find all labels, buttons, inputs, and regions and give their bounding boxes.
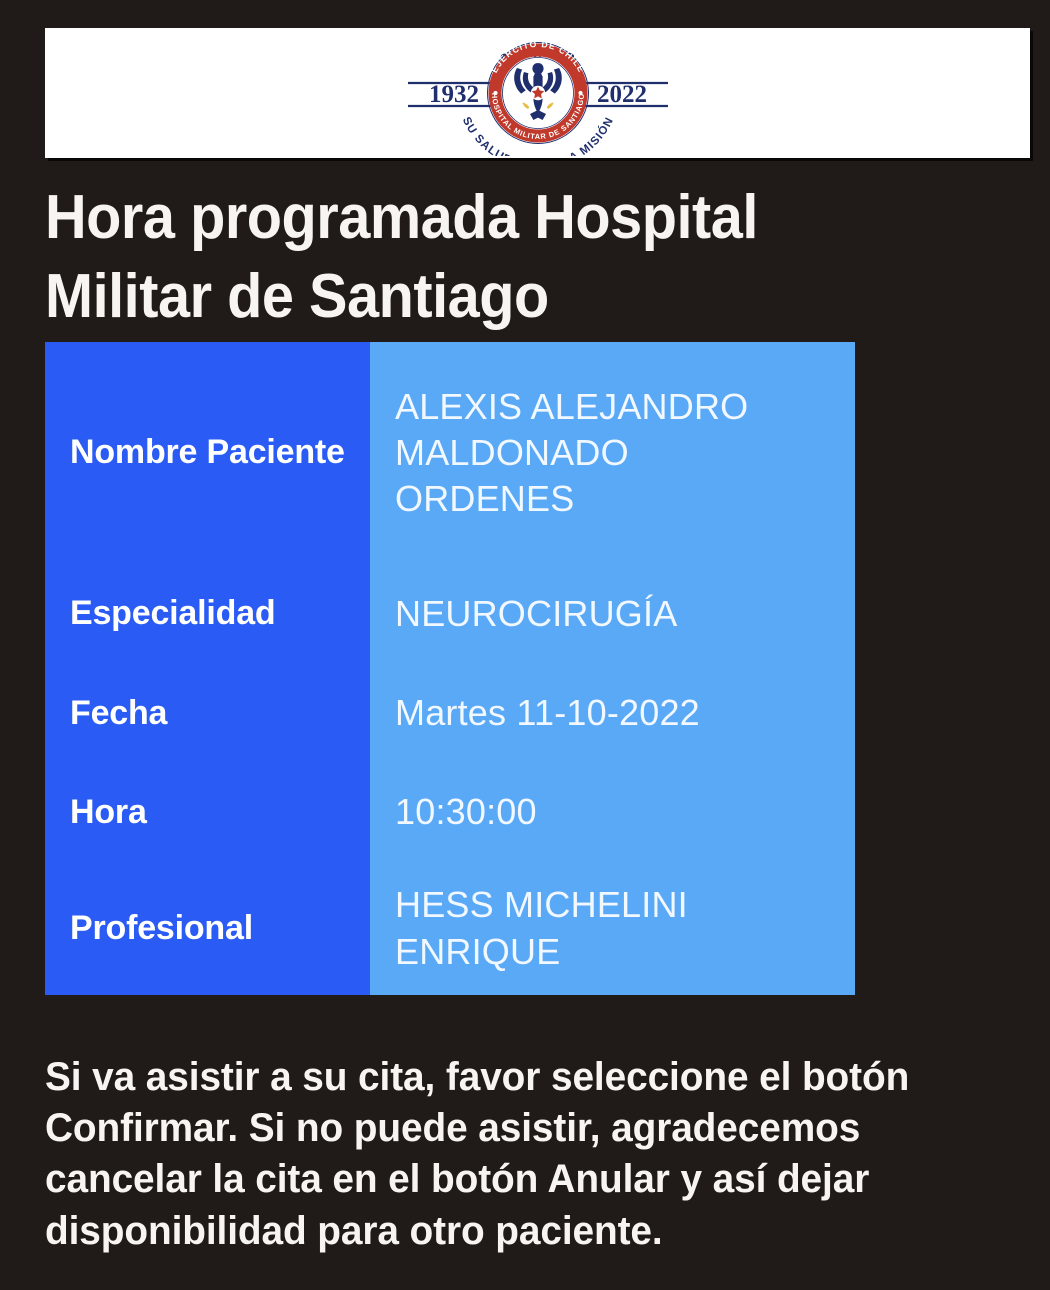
row-value-hora: 10:30:00 bbox=[370, 763, 855, 862]
value-line: NEUROCIRUGÍA bbox=[395, 591, 677, 637]
value-line: ALEXIS ALEJANDRO bbox=[395, 384, 748, 430]
row-label-fecha: Fecha bbox=[45, 664, 370, 763]
row-value-fecha: Martes 11-10-2022 bbox=[370, 664, 855, 763]
table-row: Especialidad NEUROCIRUGÍA bbox=[45, 564, 855, 664]
row-label-especialidad: Especialidad bbox=[45, 564, 370, 664]
row-label-profesional: Profesional bbox=[45, 862, 370, 995]
table-row: Hora 10:30:00 bbox=[45, 763, 855, 862]
value-line: ORDENES bbox=[395, 476, 748, 522]
row-label-nombre-paciente: Nombre Paciente bbox=[45, 342, 370, 564]
row-value-profesional: HESS MICHELINI ENRIQUE bbox=[370, 862, 855, 995]
institution-logo: 1932 2022 90 AÑOS EJÉRCITO DE CHILE HOSP… bbox=[378, 30, 698, 156]
row-label-hora: Hora bbox=[45, 763, 370, 862]
logo-year-right: 2022 bbox=[597, 81, 647, 108]
row-value-nombre-paciente: ALEXIS ALEJANDRO MALDONADO ORDENES bbox=[370, 342, 855, 564]
value-line: Martes 11-10-2022 bbox=[395, 690, 700, 736]
row-value-especialidad: NEUROCIRUGÍA bbox=[370, 564, 855, 664]
table-row: Profesional HESS MICHELINI ENRIQUE bbox=[45, 862, 855, 995]
logo-panel: 1932 2022 90 AÑOS EJÉRCITO DE CHILE HOSP… bbox=[45, 28, 1030, 158]
table-row: Fecha Martes 11-10-2022 bbox=[45, 664, 855, 763]
instructions-text: Si va asistir a su cita, favor seleccion… bbox=[45, 1052, 1000, 1257]
hospital-crest-icon: 1932 2022 90 AÑOS EJÉRCITO DE CHILE HOSP… bbox=[378, 30, 698, 156]
appointment-details-table: Nombre Paciente ALEXIS ALEJANDRO MALDONA… bbox=[45, 342, 855, 995]
logo-year-left: 1932 bbox=[429, 81, 479, 108]
value-line: ENRIQUE bbox=[395, 929, 688, 975]
page-title: Hora programada Hospital Militar de Sant… bbox=[45, 178, 938, 337]
value-line: MALDONADO bbox=[395, 430, 748, 476]
appointment-notification-page: 1932 2022 90 AÑOS EJÉRCITO DE CHILE HOSP… bbox=[0, 0, 1050, 1290]
value-line: 10:30:00 bbox=[395, 789, 537, 835]
table-row: Nombre Paciente ALEXIS ALEJANDRO MALDONA… bbox=[45, 342, 855, 564]
value-line: HESS MICHELINI bbox=[395, 882, 688, 928]
